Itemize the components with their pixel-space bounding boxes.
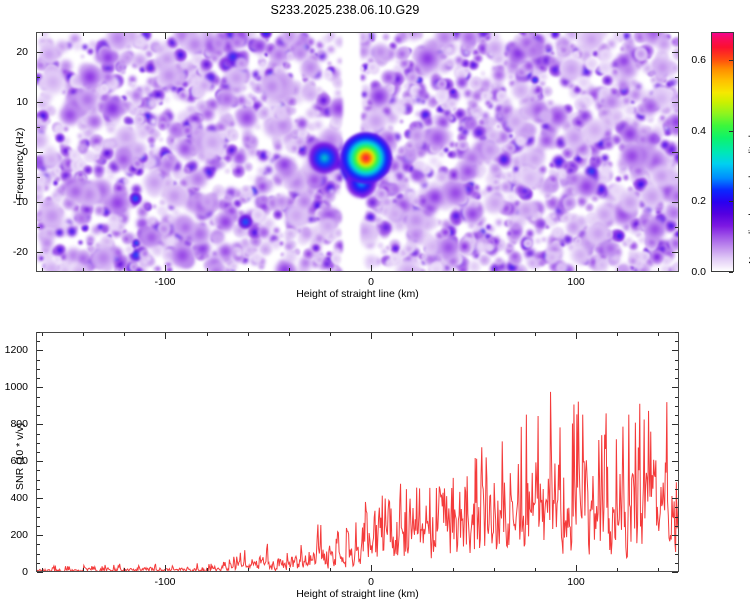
axis-tick bbox=[37, 517, 40, 518]
axis-tick bbox=[675, 341, 678, 342]
spectrogram-blob bbox=[386, 205, 404, 223]
spectrogram-blob bbox=[425, 187, 445, 207]
spectrogram-blob bbox=[556, 49, 561, 54]
spectrogram-blob bbox=[305, 171, 323, 189]
axis-tick bbox=[37, 227, 40, 228]
spectrogram-blob bbox=[481, 71, 485, 75]
spectrogram-blob bbox=[230, 36, 244, 50]
snr-x-axis-label: Height of straight line (km) bbox=[36, 588, 679, 600]
spectrogram-blob bbox=[541, 237, 547, 243]
spectrogram-blob bbox=[403, 83, 409, 89]
spectrogram-blob bbox=[640, 185, 663, 208]
spectrogram-blob bbox=[55, 133, 65, 143]
spectrogram-blob bbox=[247, 147, 258, 158]
axis-tick bbox=[37, 507, 40, 508]
spectrogram-blob bbox=[656, 36, 672, 52]
spectrogram-blob bbox=[560, 239, 565, 244]
axis-tick bbox=[83, 333, 84, 336]
axis-tick bbox=[672, 252, 678, 253]
axis-tick bbox=[672, 387, 678, 388]
axis-tick bbox=[675, 332, 678, 333]
axis-tick bbox=[672, 202, 678, 203]
spectrogram-blob bbox=[273, 209, 283, 219]
axis-tick bbox=[248, 333, 249, 336]
spectrogram-blob bbox=[484, 192, 506, 214]
colorbar-tick bbox=[729, 60, 733, 61]
spectrogram-blob bbox=[555, 262, 568, 271]
axis-tick bbox=[371, 565, 372, 571]
spectrogram-blob bbox=[637, 225, 642, 230]
axis-tick bbox=[37, 77, 40, 78]
axis-tick bbox=[37, 452, 40, 453]
spectrogram-blob bbox=[86, 235, 95, 244]
spectrogram-blob bbox=[132, 53, 148, 69]
spectrogram-blob bbox=[249, 176, 254, 181]
spectrogram-blob bbox=[285, 63, 291, 69]
axis-tick bbox=[37, 378, 40, 379]
axis-tick bbox=[675, 378, 678, 379]
axis-tick bbox=[453, 568, 454, 571]
spectrogram-blob bbox=[496, 90, 507, 101]
axis-tick-label: -20 bbox=[13, 246, 28, 258]
spectrogram-blob bbox=[114, 150, 133, 169]
spectrogram-blob bbox=[55, 228, 64, 237]
axis-tick bbox=[535, 33, 536, 36]
axis-tick bbox=[672, 461, 678, 462]
spectrogram-blob bbox=[672, 47, 678, 61]
axis-tick bbox=[165, 565, 166, 571]
spectrogram-blob bbox=[672, 79, 677, 84]
spectrogram-blob bbox=[539, 260, 546, 267]
axis-tick bbox=[617, 333, 618, 336]
spectrogram-blob bbox=[620, 124, 640, 144]
axis-tick bbox=[675, 434, 678, 435]
axis-tick bbox=[37, 202, 43, 203]
spectrogram-blob bbox=[562, 148, 572, 158]
axis-tick bbox=[617, 33, 618, 36]
spectrogram-blob bbox=[385, 245, 391, 251]
axis-tick bbox=[675, 177, 678, 178]
spectrogram-blob bbox=[210, 53, 220, 63]
axis-tick bbox=[675, 563, 678, 564]
colorbar bbox=[711, 32, 734, 272]
axis-tick bbox=[672, 102, 678, 103]
axis-tick bbox=[37, 127, 40, 128]
spectrogram-blob bbox=[408, 127, 426, 145]
axis-tick bbox=[494, 568, 495, 571]
spectrogram-blob bbox=[399, 119, 404, 124]
spectrogram-blob bbox=[327, 46, 334, 53]
axis-tick bbox=[124, 268, 125, 271]
spectrogram-blob bbox=[480, 78, 492, 90]
axis-tick bbox=[37, 498, 43, 499]
axis-tick bbox=[535, 268, 536, 271]
spectrogram-blob bbox=[303, 87, 318, 102]
spectrogram-blob bbox=[160, 157, 176, 173]
spectrogram-blob bbox=[211, 232, 224, 245]
colorbar-tick-label: 0.0 bbox=[691, 266, 706, 278]
axis-tick bbox=[124, 33, 125, 36]
spectrogram-blob bbox=[87, 48, 94, 55]
axis-tick-label: -100 bbox=[154, 576, 175, 588]
spectrogram-blob bbox=[39, 203, 65, 229]
spectrogram-blob bbox=[492, 178, 499, 185]
spectrogram-blob bbox=[155, 266, 161, 271]
spectrogram-blob bbox=[587, 222, 609, 244]
axis-tick bbox=[248, 268, 249, 271]
spectrogram-blob bbox=[541, 180, 555, 194]
axis-tick bbox=[42, 333, 43, 336]
spectrogram-blob bbox=[78, 240, 83, 245]
spectrogram-blob bbox=[368, 85, 391, 108]
snr-y-axis-label: SNR (10 * v/v) bbox=[14, 423, 26, 490]
spectrogram-blob bbox=[274, 143, 282, 151]
spectrogram-blob bbox=[77, 133, 83, 139]
axis-tick bbox=[494, 268, 495, 271]
spectrogram-blob bbox=[313, 217, 317, 221]
spectrogram-blob bbox=[242, 134, 253, 145]
axis-tick bbox=[658, 568, 659, 571]
axis-tick bbox=[675, 397, 678, 398]
spectrogram-blob bbox=[361, 91, 368, 98]
spectrogram-blob bbox=[176, 218, 195, 237]
axis-tick bbox=[675, 507, 678, 508]
spectrogram-blob bbox=[675, 268, 678, 271]
spectrogram-blob bbox=[82, 44, 88, 50]
axis-tick bbox=[207, 33, 208, 36]
spectrogram-blob bbox=[450, 210, 462, 222]
spectrogram-blob bbox=[188, 169, 208, 189]
axis-tick bbox=[207, 333, 208, 336]
spectrogram-blob bbox=[445, 58, 455, 68]
spectrogram-blob bbox=[44, 261, 59, 271]
axis-tick-label: 100 bbox=[567, 276, 585, 288]
spectrogram-blob bbox=[42, 150, 60, 168]
spectrogram-blob bbox=[542, 86, 553, 97]
axis-tick-label: 1000 bbox=[5, 381, 28, 393]
spectrogram-blob bbox=[669, 236, 678, 250]
axis-tick-label: 10 bbox=[16, 96, 28, 108]
axis-tick bbox=[37, 177, 40, 178]
axis-tick bbox=[535, 568, 536, 571]
axis-tick bbox=[248, 568, 249, 571]
spectrogram-blob bbox=[235, 191, 241, 197]
spectrogram-blob bbox=[610, 110, 623, 123]
axis-tick-label: 20 bbox=[16, 46, 28, 58]
axis-tick bbox=[675, 480, 678, 481]
axis-tick bbox=[675, 517, 678, 518]
axis-tick bbox=[37, 554, 40, 555]
spectrogram-blob bbox=[511, 81, 530, 100]
spectrogram-blob bbox=[377, 242, 384, 249]
axis-tick-label: 0 bbox=[368, 276, 374, 288]
axis-tick bbox=[37, 369, 40, 370]
spectrogram-blob bbox=[500, 269, 507, 271]
axis-tick bbox=[37, 544, 40, 545]
spectrogram-blob bbox=[620, 144, 644, 168]
axis-tick bbox=[675, 470, 678, 471]
axis-tick bbox=[371, 333, 372, 339]
spectrogram-blob bbox=[585, 203, 593, 211]
spectrogram-blob bbox=[225, 67, 247, 89]
axis-tick bbox=[37, 470, 40, 471]
spectrogram-blob bbox=[496, 219, 502, 225]
axis-tick bbox=[124, 333, 125, 336]
spectrogram-blob bbox=[546, 33, 551, 37]
spectrogram-blob bbox=[525, 149, 545, 169]
spectrogram-blob bbox=[642, 98, 658, 114]
axis-tick bbox=[37, 102, 43, 103]
axis-tick bbox=[658, 33, 659, 36]
spectrogram-blob bbox=[241, 239, 249, 247]
colorbar-tick bbox=[729, 131, 733, 132]
spectrogram-blob bbox=[290, 144, 299, 153]
axis-tick bbox=[330, 33, 331, 36]
spectrogram-blob bbox=[478, 119, 485, 126]
axis-tick bbox=[453, 333, 454, 336]
spectrogram-blob bbox=[495, 257, 503, 265]
spectrogram-blob bbox=[93, 164, 105, 176]
spectrogram-blob bbox=[65, 181, 86, 202]
axis-tick bbox=[124, 568, 125, 571]
snr-trace bbox=[37, 333, 678, 571]
colorbar-tick-label: 0.2 bbox=[691, 195, 706, 207]
spectrogram-blob bbox=[326, 251, 332, 257]
axis-tick bbox=[37, 350, 43, 351]
spectrogram-blob bbox=[86, 113, 103, 130]
axis-tick bbox=[289, 33, 290, 36]
axis-tick-label: 0 bbox=[22, 566, 28, 578]
axis-tick bbox=[675, 443, 678, 444]
snr-plot-area[interactable] bbox=[36, 332, 679, 572]
spectrogram-blob bbox=[158, 137, 164, 143]
axis-tick bbox=[42, 33, 43, 36]
spectrogram-blob bbox=[229, 121, 235, 127]
axis-tick bbox=[675, 415, 678, 416]
axis-tick bbox=[37, 332, 40, 333]
spectrogram-plot-area[interactable] bbox=[36, 32, 679, 272]
spectrogram-blob bbox=[158, 64, 180, 86]
spectrogram-blob bbox=[258, 226, 271, 239]
axis-tick bbox=[42, 268, 43, 271]
spectrogram-blob bbox=[200, 195, 214, 209]
spectrogram-blob bbox=[232, 150, 247, 165]
spectrogram-blob bbox=[37, 174, 47, 185]
axis-tick bbox=[672, 52, 678, 53]
axis-tick bbox=[672, 572, 678, 573]
spectrogram-blob bbox=[125, 245, 133, 253]
spectrogram-blob bbox=[83, 165, 93, 175]
spectrogram-blob bbox=[458, 240, 471, 253]
axis-tick bbox=[37, 526, 40, 527]
main-echo-peak bbox=[340, 132, 392, 184]
spectrogram-blob bbox=[665, 204, 678, 222]
spectrogram-blob bbox=[566, 219, 582, 235]
spectrogram-blob bbox=[623, 174, 630, 181]
axis-tick bbox=[371, 265, 372, 271]
spectrogram-blob bbox=[443, 180, 468, 205]
axis-tick bbox=[675, 406, 678, 407]
spectrogram-blob bbox=[101, 97, 125, 121]
spectrogram-blob bbox=[407, 226, 425, 244]
spectrogram-blob bbox=[264, 166, 273, 175]
spectrogram-blob bbox=[421, 254, 427, 260]
spectrogram-blob bbox=[251, 38, 268, 55]
axis-tick bbox=[42, 568, 43, 571]
spectrogram-blob bbox=[477, 232, 483, 238]
axis-tick bbox=[412, 268, 413, 271]
spectrogram-blob bbox=[375, 188, 388, 201]
axis-tick bbox=[37, 415, 40, 416]
spectrogram-blob bbox=[365, 69, 371, 75]
axis-tick bbox=[37, 341, 40, 342]
axis-tick bbox=[675, 369, 678, 370]
colorbar-tick bbox=[729, 201, 733, 202]
spectrogram-blob bbox=[585, 57, 599, 71]
axis-tick bbox=[617, 568, 618, 571]
snr-canvas bbox=[37, 333, 678, 571]
spectrogram-blob bbox=[437, 79, 447, 89]
spectrogram-blob bbox=[563, 126, 586, 149]
axis-tick bbox=[37, 434, 40, 435]
spectrogram-blob bbox=[496, 124, 502, 130]
spectrogram-blob bbox=[403, 147, 418, 162]
axis-tick-label: 200 bbox=[10, 529, 28, 541]
spectrogram-blob bbox=[300, 227, 314, 241]
axis-tick bbox=[576, 333, 577, 339]
axis-tick bbox=[37, 360, 40, 361]
spectrogram-blob bbox=[406, 71, 419, 84]
spectrogram-blob bbox=[614, 230, 626, 242]
axis-tick bbox=[672, 152, 678, 153]
axis-tick bbox=[658, 333, 659, 336]
spectrogram-blob bbox=[531, 76, 538, 83]
spectrogram-blob bbox=[505, 111, 526, 132]
axis-tick bbox=[453, 33, 454, 36]
spectrogram-blob bbox=[492, 68, 505, 81]
axis-tick bbox=[37, 406, 40, 407]
spectrogram-blob bbox=[394, 35, 403, 44]
axis-tick-label: -100 bbox=[154, 276, 175, 288]
spectrogram-blob bbox=[472, 126, 485, 139]
spectrogram-blob bbox=[458, 162, 478, 182]
spectrogram-blob bbox=[615, 176, 621, 182]
axis-tick bbox=[37, 397, 40, 398]
axis-tick bbox=[207, 568, 208, 571]
axis-tick bbox=[576, 265, 577, 271]
spectrogram-blob bbox=[559, 57, 584, 82]
spectrogram-blob bbox=[359, 74, 367, 82]
spectrogram-blob bbox=[241, 185, 250, 194]
axis-tick bbox=[675, 526, 678, 527]
spectrogram-blob bbox=[106, 33, 131, 51]
spectrogram-blob bbox=[634, 47, 648, 61]
axis-tick bbox=[675, 489, 678, 490]
spectrogram-blob bbox=[607, 39, 617, 49]
spectrogram-blob bbox=[381, 70, 396, 85]
colorbar-tick-label: 0.6 bbox=[691, 54, 706, 66]
spectrogram-blob bbox=[449, 141, 455, 147]
axis-tick bbox=[37, 52, 43, 53]
spectrogram-blob bbox=[527, 44, 540, 57]
spectrogram-blob bbox=[235, 250, 242, 257]
spectrogram-blob bbox=[292, 130, 297, 135]
spectrogram-y-axis-label: Frequency (Hz) bbox=[14, 128, 26, 200]
axis-tick bbox=[412, 568, 413, 571]
axis-tick bbox=[371, 33, 372, 39]
axis-tick bbox=[165, 333, 166, 339]
spectrogram-blob bbox=[135, 267, 143, 271]
axis-tick bbox=[675, 77, 678, 78]
axis-tick-label: 1200 bbox=[5, 344, 28, 356]
axis-tick bbox=[165, 265, 166, 271]
spectrogram-blob bbox=[539, 110, 552, 123]
spectrogram-blob bbox=[168, 122, 183, 137]
spectrogram-blob bbox=[335, 90, 341, 96]
spectrogram-blob bbox=[552, 227, 563, 238]
axis-tick bbox=[617, 268, 618, 271]
spectrogram-blob bbox=[207, 263, 226, 271]
spectrogram-blob bbox=[485, 38, 505, 58]
spectrogram-blob bbox=[357, 223, 373, 239]
spectrogram-blob bbox=[515, 135, 526, 146]
spectrogram-blob bbox=[620, 46, 625, 51]
spectrogram-blob bbox=[497, 153, 510, 166]
spectrogram-blob bbox=[244, 162, 254, 172]
spectrogram-blob bbox=[485, 243, 494, 252]
axis-tick bbox=[37, 443, 40, 444]
axis-tick bbox=[83, 568, 84, 571]
axis-tick bbox=[165, 33, 166, 39]
spectrogram-blob bbox=[425, 126, 449, 150]
axis-tick bbox=[37, 489, 40, 490]
axis-tick bbox=[576, 565, 577, 571]
spectrogram-blob bbox=[511, 221, 521, 231]
spectrogram-blob bbox=[617, 79, 629, 91]
spectrogram-blob bbox=[129, 192, 142, 205]
spectrogram-blob bbox=[523, 239, 532, 248]
axis-tick bbox=[248, 33, 249, 36]
spectrogram-blob bbox=[98, 48, 117, 67]
spectrogram-x-axis-label: Height of straight line (km) bbox=[36, 288, 679, 300]
spectrogram-blob bbox=[38, 44, 59, 65]
spectrogram-blob bbox=[603, 139, 613, 149]
spectrogram-blob bbox=[406, 33, 422, 41]
spectrogram-blob bbox=[184, 90, 189, 95]
spectrogram-blob bbox=[142, 250, 148, 256]
spectrogram-blob bbox=[456, 76, 469, 89]
spectrogram-blob bbox=[410, 169, 423, 182]
spectrogram-blob bbox=[545, 44, 551, 50]
spectrogram-blob bbox=[619, 191, 642, 214]
axis-tick bbox=[37, 387, 43, 388]
spectrogram-blob bbox=[591, 156, 597, 162]
spectrogram-blob bbox=[382, 33, 390, 41]
spectrogram-blob bbox=[76, 88, 99, 111]
axis-tick bbox=[494, 333, 495, 336]
spectrogram-blob bbox=[251, 252, 262, 263]
axis-tick-label: 400 bbox=[10, 492, 28, 504]
axis-tick bbox=[412, 333, 413, 336]
spectrogram-canvas bbox=[37, 33, 678, 271]
spectrogram-blob bbox=[176, 140, 194, 158]
spectrogram-blob bbox=[170, 243, 195, 268]
spectrogram-blob bbox=[468, 260, 481, 271]
spectrogram-blob bbox=[519, 167, 541, 189]
spectrogram-blob bbox=[393, 102, 407, 116]
spectrogram-blob bbox=[63, 126, 69, 132]
spectrogram-blob bbox=[255, 124, 262, 131]
